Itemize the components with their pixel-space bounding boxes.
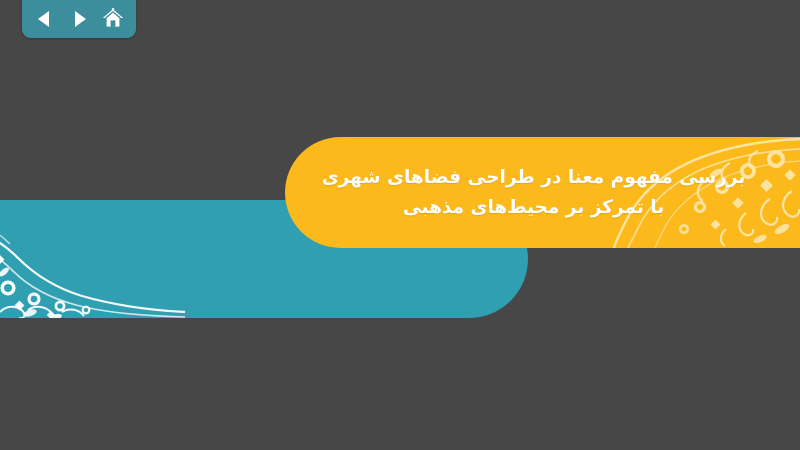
home-slide-button[interactable] [100, 6, 126, 32]
title-line-1: بررسی مفهوم معنا در طراحی فضاهای شهری [322, 163, 746, 193]
arabesque-corner-ornament [0, 200, 185, 318]
home-icon [101, 7, 125, 31]
presentation-navigation-toolbar [22, 0, 136, 38]
previous-slide-button[interactable] [32, 6, 58, 32]
back-arrow-icon [34, 8, 56, 30]
title-line-2: با تمرکز بر محیط‌های مذهبی [322, 193, 746, 223]
forward-arrow-icon [68, 8, 90, 30]
page-title: بررسی مفهوم معنا در طراحی فضاهای شهری با… [285, 163, 800, 223]
next-slide-button[interactable] [66, 6, 92, 32]
title-banner: بررسی مفهوم معنا در طراحی فضاهای شهری با… [285, 137, 800, 248]
presentation-slide: بررسی مفهوم معنا در طراحی فضاهای شهری با… [0, 0, 800, 450]
